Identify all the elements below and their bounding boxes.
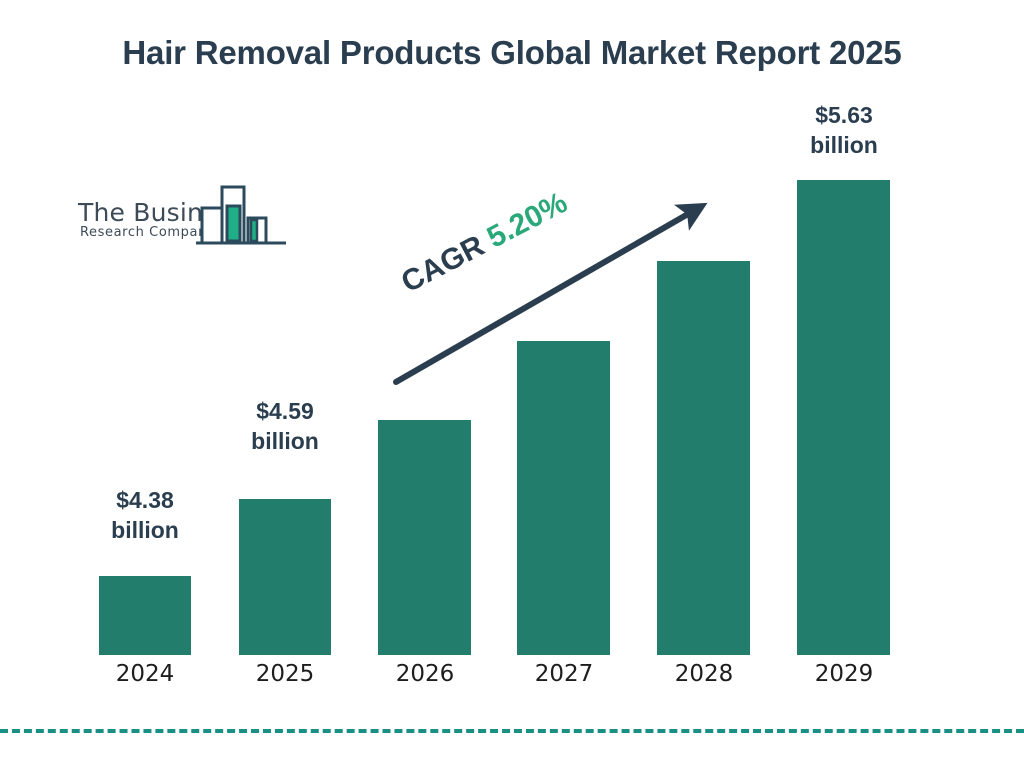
footer-divider bbox=[0, 729, 1024, 733]
x-tick-2027: 2027 bbox=[504, 661, 624, 687]
market-report-chart: Hair Removal Products Global Market Repo… bbox=[0, 0, 1024, 768]
x-tick-2024: 2024 bbox=[85, 661, 205, 687]
x-tick-2025: 2025 bbox=[225, 661, 345, 687]
bar-2027 bbox=[517, 341, 610, 655]
x-tick-2026: 2026 bbox=[365, 661, 485, 687]
value-label-2025: $4.59 billion bbox=[215, 396, 355, 457]
bar-2026 bbox=[378, 420, 471, 655]
value-label-2024: $4.38 billion bbox=[75, 485, 215, 546]
bar-2029 bbox=[797, 180, 890, 655]
bar-2028 bbox=[657, 261, 750, 655]
bar-2025 bbox=[239, 499, 331, 655]
x-tick-2029: 2029 bbox=[784, 661, 904, 687]
bar-2024 bbox=[99, 576, 191, 655]
x-tick-2028: 2028 bbox=[644, 661, 764, 687]
plot-area: $4.38 billion $4.59 billion $5.63 billio… bbox=[0, 0, 1024, 768]
value-label-2029: $5.63 billion bbox=[774, 100, 914, 161]
